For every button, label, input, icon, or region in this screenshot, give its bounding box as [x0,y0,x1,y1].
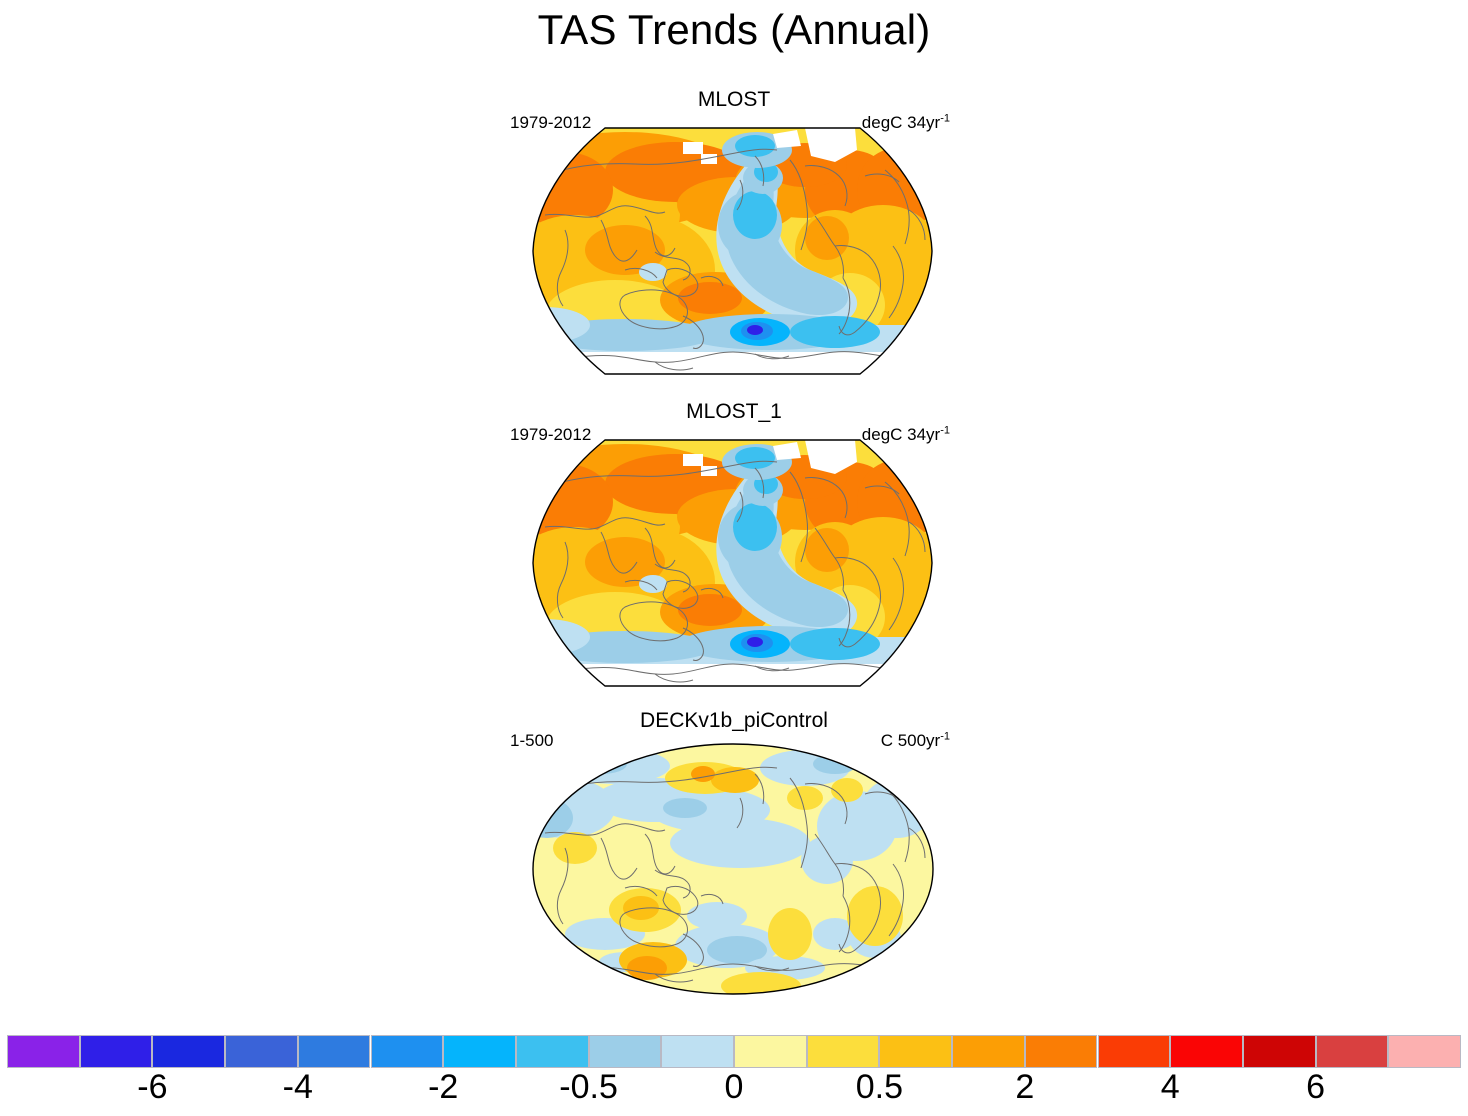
colorbar-swatch [952,1035,1025,1068]
colorbar-tick-label: -2 [428,1068,458,1107]
colorbar[interactable] [0,1035,1468,1068]
map-svg-mlost [505,120,960,382]
colorbar-swatch [589,1035,662,1068]
colorbar-swatch [371,1035,444,1068]
colorbar-swatch [1025,1035,1098,1068]
colorbar-tick-label: -0.5 [559,1068,618,1107]
colorbar-swatch [298,1035,371,1068]
colorbar-tick-label: 0 [725,1068,744,1107]
colorbar-swatch [152,1035,225,1068]
map-svg-mlost-1 [505,432,960,694]
colorbar-tick-label: -4 [283,1068,313,1107]
colorbar-tick-label: -6 [137,1068,167,1107]
colorbar-swatch [80,1035,153,1068]
figure-root: TAS Trends (Annual) MLOST 1979-2012 degC… [0,0,1468,1116]
colorbar-swatch [734,1035,807,1068]
panel-title-deck: DECKv1b_piControl [0,709,1468,733]
colorbar-swatch [1316,1035,1389,1068]
map-mlost-1 [505,432,960,694]
colorbar-swatch [7,1035,80,1068]
colorbar-tick-label: 4 [1161,1068,1180,1107]
panel-title-mlost: MLOST [0,88,1468,112]
colorbar-tick-label: 2 [1015,1068,1034,1107]
colorbar-swatch [879,1035,952,1068]
map-mlost [505,120,960,382]
colorbar-swatch [443,1035,516,1068]
map-field-deck [505,738,960,1000]
colorbar-tick-label: 6 [1306,1068,1325,1107]
colorbar-swatch [225,1035,298,1068]
colorbar-tick-labels: -6-4-2-0.500.5246 [0,1068,1468,1116]
colorbar-swatch [516,1035,589,1068]
colorbar-swatch [1170,1035,1243,1068]
colorbar-tick-label: 0.5 [856,1068,903,1107]
panel-title-mlost-1: MLOST_1 [0,400,1468,424]
colorbar-swatch [807,1035,880,1068]
colorbar-swatch [1243,1035,1316,1068]
figure-title: TAS Trends (Annual) [0,6,1468,54]
colorbar-swatch [1098,1035,1171,1068]
colorbar-swatch [1388,1035,1461,1068]
map-svg-deck [505,738,960,1000]
colorbar-swatch [661,1035,734,1068]
map-deck [505,738,960,1000]
